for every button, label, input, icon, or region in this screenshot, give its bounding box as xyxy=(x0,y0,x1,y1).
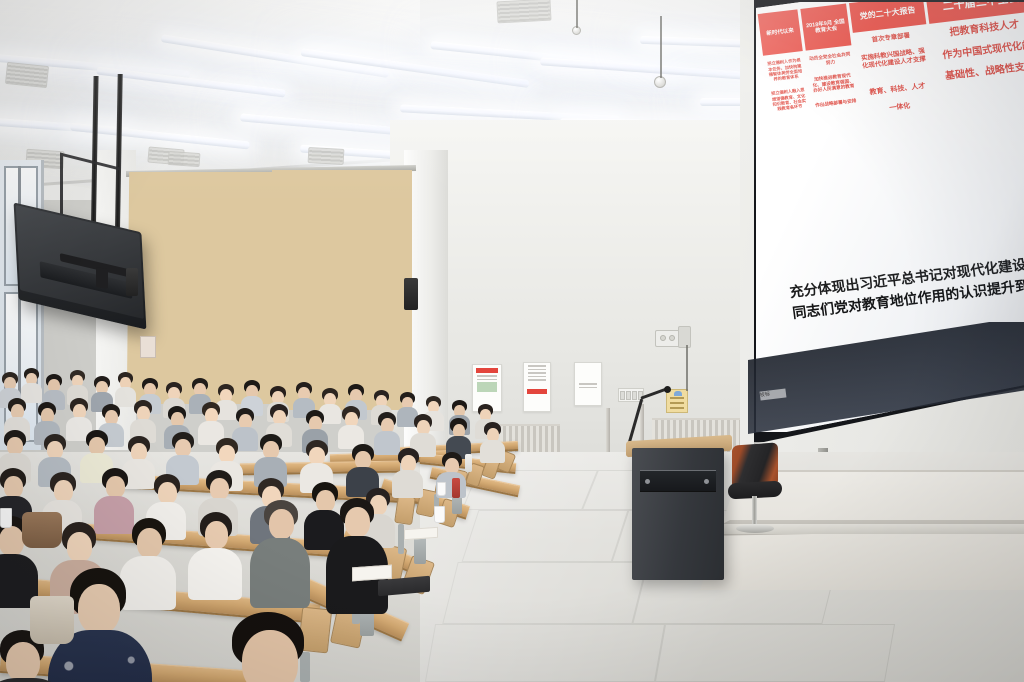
notice-text-line xyxy=(528,365,546,367)
notice-text-line xyxy=(477,379,497,381)
ceiling-air-vent xyxy=(168,151,201,167)
torso xyxy=(374,431,400,455)
notice-board-right xyxy=(574,362,602,406)
chair-gas-post xyxy=(752,496,757,526)
ceiling-drop-wire xyxy=(660,16,662,78)
floor-tile xyxy=(655,624,895,682)
slide-cell: 动员全党全社会共同努力 xyxy=(806,49,854,72)
head xyxy=(0,526,24,556)
head xyxy=(54,480,73,502)
torso xyxy=(392,470,423,498)
head xyxy=(242,630,298,682)
window-curtain xyxy=(272,170,412,410)
placard-text-line xyxy=(670,407,684,409)
electrical-meter-box xyxy=(678,326,691,348)
floor-tile xyxy=(462,510,629,562)
paper-cup xyxy=(0,508,12,528)
wall-speaker xyxy=(126,268,138,296)
head xyxy=(345,507,370,537)
ceiling-air-vent xyxy=(496,0,551,23)
microphone-head-icon xyxy=(664,386,671,393)
head xyxy=(137,528,162,558)
notice-text-line xyxy=(477,375,497,377)
ceiling-drop-wire xyxy=(576,0,578,28)
torso xyxy=(480,440,505,463)
notice-text-line xyxy=(528,376,546,378)
notice-board-center xyxy=(523,362,551,412)
paper-cup xyxy=(437,482,446,496)
slide-column-header: 2018年9月 全国教育大会 xyxy=(800,4,851,51)
floor-tile xyxy=(425,624,665,682)
speaker-lectern[interactable] xyxy=(632,448,724,580)
torso xyxy=(188,548,242,600)
notice-red-footer xyxy=(527,389,547,394)
lectern-knob-icon xyxy=(704,479,709,484)
notice-text-line xyxy=(579,387,597,389)
head xyxy=(4,476,23,498)
notice-text-line xyxy=(528,372,546,374)
switch-button[interactable] xyxy=(626,391,631,400)
notice-text-line xyxy=(528,379,546,381)
lectern-knob-icon xyxy=(645,479,650,484)
water-bottle xyxy=(452,478,460,498)
head xyxy=(67,532,92,562)
head xyxy=(269,509,294,539)
notice-image xyxy=(477,382,497,392)
monitor-bracket xyxy=(96,267,108,289)
presenter-chair[interactable] xyxy=(726,444,782,504)
slide-cell: 把立德树人融入思想道德教育、文化知识教育、社会实践教育各环节 xyxy=(767,84,810,116)
slide-cell: 作出战略部署与安排 xyxy=(812,95,859,112)
notice-text-line xyxy=(528,369,546,371)
torso xyxy=(120,556,176,610)
slide-column-header: 新时代以来 xyxy=(758,10,803,56)
ceiling-air-vent xyxy=(308,147,345,165)
head xyxy=(106,476,125,498)
chair-base xyxy=(736,524,774,533)
head xyxy=(210,478,229,500)
head xyxy=(205,521,228,549)
torso xyxy=(250,538,310,608)
paper-cup xyxy=(434,506,445,523)
wall-photo-frame xyxy=(140,336,156,358)
torso xyxy=(94,496,134,534)
placard-cap-icon xyxy=(674,391,682,396)
water-bottle xyxy=(465,454,472,472)
seat-frame xyxy=(300,652,310,682)
slide-content: 回顾党和国家的历史，党对教育强国的认识不断 新时代以来 把立德树人作为根本任务，… xyxy=(748,2,1024,432)
torso xyxy=(115,387,136,407)
handbag xyxy=(30,596,74,644)
slide-cell: 加快推进教育现代化、建设教育强国、办好人民满意的教育 xyxy=(809,69,858,97)
lectern-control-panel[interactable] xyxy=(640,470,716,492)
floor-tile xyxy=(442,562,647,624)
lecture-hall-photo: 回顾党和国家的历史，党对教育强国的认识不断 新时代以来 把立德树人作为根本任务，… xyxy=(0,0,1024,682)
head xyxy=(78,584,120,634)
placard-text-line xyxy=(670,397,684,399)
slide-column: 二十届三中全会 把教育科技人才 作为中国式现代化的 基础性、战略性支撑 xyxy=(926,2,1024,111)
wall-speaker xyxy=(404,278,418,310)
notice-red-header xyxy=(476,368,498,373)
handbag xyxy=(22,512,62,548)
ceiling-air-vent xyxy=(5,62,49,88)
warning-placard-yellow xyxy=(666,389,688,413)
screen-display-area: 回顾党和国家的历史，党对教育强国的认识不断 新时代以来 把立德树人作为根本任务，… xyxy=(748,2,1024,432)
presentation-screen[interactable]: 回顾党和国家的历史，党对教育强国的认识不断 新时代以来 把立德树人作为根本任务，… xyxy=(740,0,1024,452)
switch-button[interactable] xyxy=(620,391,625,400)
head xyxy=(6,642,40,682)
meter-indicator-icon xyxy=(669,335,675,341)
switch-button[interactable] xyxy=(632,391,637,400)
slide-table: 新时代以来 把立德树人作为根本任务，加快构建德智体美劳全面培养的教育体系 把立德… xyxy=(754,2,1024,131)
meter-indicator-icon xyxy=(660,335,666,341)
window-curtain xyxy=(127,172,279,404)
head xyxy=(316,490,335,512)
placard-text-line xyxy=(670,402,684,404)
slide-cell: 实施科教兴国战略、强化现代化建设人才支撑 xyxy=(855,44,931,75)
head xyxy=(158,482,177,504)
seat-backrest[interactable] xyxy=(394,495,416,525)
slide-footer: 充分体现出习近平总书记对现代化建设和教育强国规律 同志们党对教育地位作用的认识提… xyxy=(788,244,1024,324)
slide-cell: 把立德树人作为根本任务，加快构建德智体美劳全面培养的教育体系 xyxy=(763,54,806,86)
slide-column: 党的二十大报告 首次专章部署 实施科教兴国战略、强化现代化建设人才支撑 教育、科… xyxy=(849,2,938,120)
conduit-pipe xyxy=(686,345,688,391)
floor-tile xyxy=(462,470,598,510)
notice-text-line xyxy=(579,383,597,385)
